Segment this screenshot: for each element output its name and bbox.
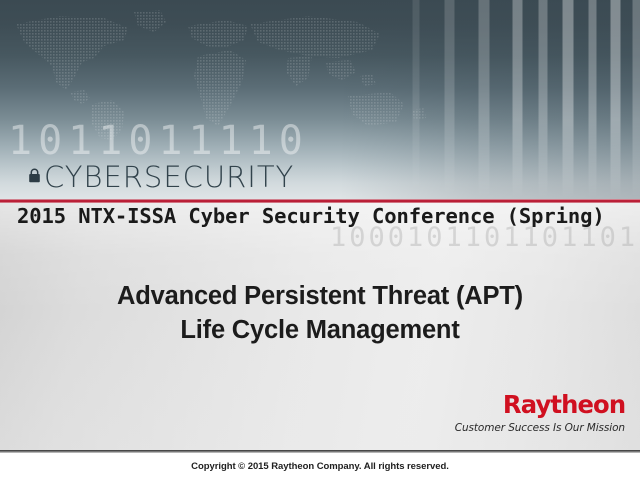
- slide-title-line-1: Advanced Persistent Threat (APT): [0, 280, 640, 314]
- padlock-icon: [28, 168, 41, 183]
- copyright-notice: Copyright © 2015 Raytheon Company. All r…: [0, 461, 640, 472]
- title-banner: 1011011110 CYBERSECURITY: [0, 0, 640, 199]
- raytheon-tagline: Customer Success Is Our Mission: [455, 423, 625, 434]
- slide-title-line-2: Life Cycle Management: [0, 314, 640, 348]
- binary-watermark-banner: 1011011110: [8, 118, 309, 164]
- cybersecurity-brand-lockup: CYBERSECURITY: [28, 163, 294, 192]
- raytheon-wordmark: Raytheon: [460, 392, 625, 417]
- conference-subtitle: 2015 NTX-ISSA Cyber Security Conference …: [17, 203, 617, 230]
- slide-title: Advanced Persistent Threat (APT) Life Cy…: [0, 280, 640, 347]
- raytheon-logo: Raytheon Customer Success Is Our Mission: [455, 392, 625, 434]
- vertical-stripes-decoration: [370, 0, 640, 199]
- presentation-slide: 1000101101101101: [0, 0, 640, 480]
- cybersecurity-wordmark: CYBERSECURITY: [44, 163, 294, 192]
